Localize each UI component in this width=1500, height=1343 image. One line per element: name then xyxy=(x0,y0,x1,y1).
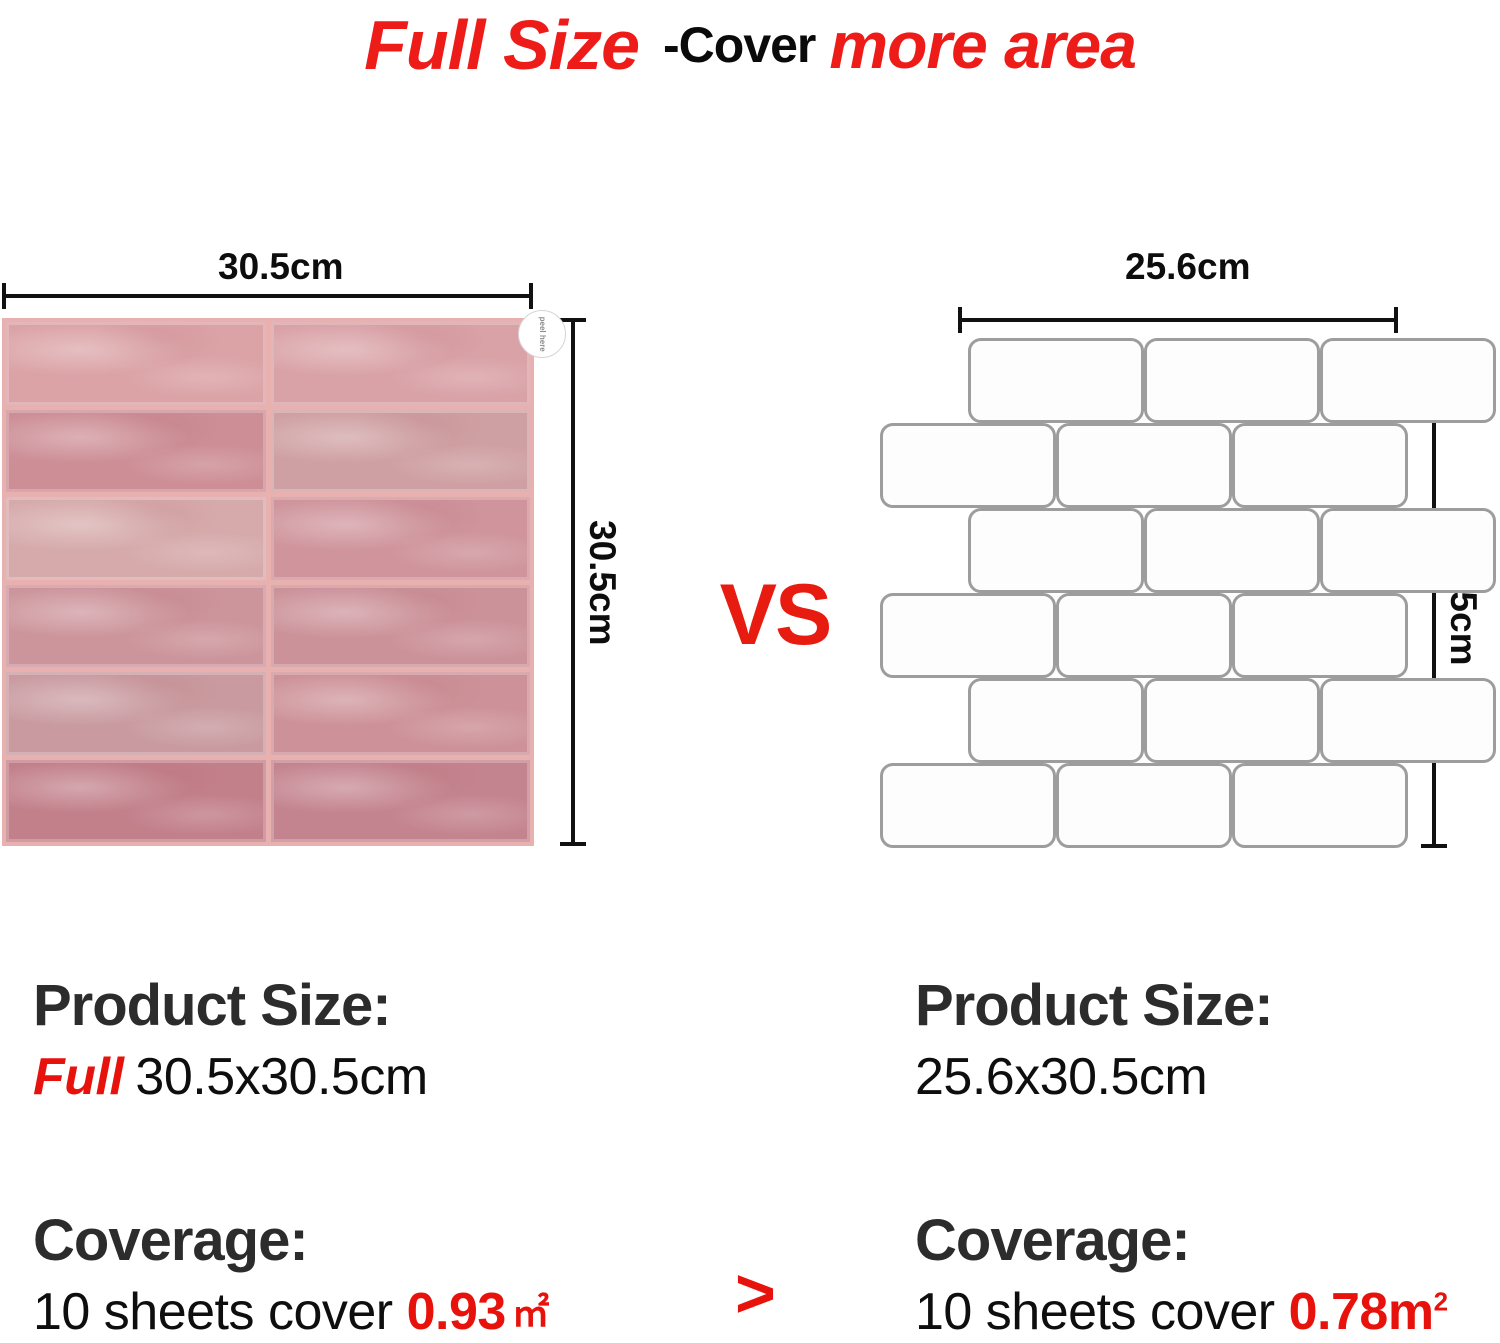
white-brick-tile xyxy=(968,508,1144,593)
right-coverage-prefix: 10 sheets cover xyxy=(915,1283,1275,1341)
right-coverage-unit-exponent: 2 xyxy=(1434,1286,1448,1316)
right-product-size-value: 25.6x30.5cm xyxy=(915,1048,1500,1106)
pink-tile xyxy=(271,322,531,405)
left-width-dimension-line xyxy=(2,294,533,298)
white-tile-sheet xyxy=(880,338,1408,850)
white-brick-tile xyxy=(1232,423,1408,508)
right-coverage-heading: Coverage: xyxy=(915,1210,1500,1273)
brick-row xyxy=(880,593,1408,678)
white-brick-tile xyxy=(880,423,1056,508)
white-brick-tile xyxy=(880,593,1056,678)
pink-tile xyxy=(271,760,531,843)
peel-here-label: peel here xyxy=(538,316,546,351)
pink-tile xyxy=(271,672,531,755)
brick-row xyxy=(880,423,1408,508)
white-brick-tile xyxy=(880,763,1056,848)
white-brick-tile xyxy=(968,338,1144,423)
pink-tile xyxy=(6,410,266,493)
pink-tile xyxy=(6,672,266,755)
left-coverage-unit: ㎡ xyxy=(512,1292,549,1334)
right-width-dimension-label: 25.6cm xyxy=(1125,248,1251,285)
brick-row xyxy=(880,678,1408,763)
title-part-full-size: Full Size xyxy=(364,10,639,80)
pink-tile xyxy=(6,322,266,405)
left-coverage-value: 10 sheets cover0.93㎡ xyxy=(33,1283,673,1341)
white-brick-tile xyxy=(1320,678,1496,763)
pink-tile xyxy=(271,585,531,668)
white-brick-tile xyxy=(1056,593,1232,678)
left-coverage-heading: Coverage: xyxy=(33,1210,673,1273)
white-brick-tile xyxy=(1320,508,1496,593)
page-title: Full Size -Cover more area xyxy=(0,2,1500,88)
pink-tile-sheet xyxy=(2,318,534,846)
left-width-dimension-label: 30.5cm xyxy=(218,248,344,285)
left-height-dimension-label: 30.5cm xyxy=(584,520,621,646)
pink-tile xyxy=(271,497,531,580)
brick-row xyxy=(880,508,1408,593)
title-part-cover: -Cover xyxy=(663,20,815,70)
left-height-dimension-line xyxy=(571,318,575,846)
white-brick-tile xyxy=(1144,508,1320,593)
left-product-size-block: Product Size: Full30.5x30.5cm xyxy=(33,975,673,1106)
vs-label: VS xyxy=(700,572,850,658)
white-brick-tile xyxy=(1056,763,1232,848)
left-product-size-heading: Product Size: xyxy=(33,975,673,1038)
pink-tile xyxy=(6,497,266,580)
brick-row xyxy=(880,763,1408,848)
left-product-size-number: 30.5x30.5cm xyxy=(135,1048,427,1106)
right-coverage-unit: m xyxy=(1388,1283,1434,1341)
title-part-more-area: more area xyxy=(829,12,1136,78)
white-brick-tile xyxy=(1232,763,1408,848)
right-product-size-block: Product Size: 25.6x30.5cm xyxy=(915,975,1500,1106)
white-brick-tile xyxy=(1320,338,1496,423)
greater-than-icon: > xyxy=(735,1258,776,1328)
left-coverage-number: 0.93 xyxy=(407,1283,506,1341)
pink-tile xyxy=(6,760,266,843)
peel-here-tab[interactable]: peel here xyxy=(518,310,566,358)
right-coverage-block: Coverage: 10 sheets cover0.78m2 xyxy=(915,1210,1500,1341)
right-coverage-value: 10 sheets cover0.78m2 xyxy=(915,1283,1500,1341)
pink-tile xyxy=(6,585,266,668)
right-width-dimension-line xyxy=(958,318,1398,322)
left-product-size-value: Full30.5x30.5cm xyxy=(33,1048,673,1106)
left-coverage-prefix: 10 sheets cover xyxy=(33,1283,393,1341)
brick-row xyxy=(880,338,1408,423)
right-product-size-heading: Product Size: xyxy=(915,975,1500,1038)
white-brick-tile xyxy=(968,678,1144,763)
left-coverage-block: Coverage: 10 sheets cover0.93㎡ xyxy=(33,1210,673,1341)
pink-tile xyxy=(271,410,531,493)
white-brick-tile xyxy=(1056,423,1232,508)
comparison-infographic: Full Size -Cover more area 30.5cm 30.5cm… xyxy=(0,0,1500,1343)
right-coverage-number: 0.78 xyxy=(1289,1283,1388,1341)
white-brick-tile xyxy=(1144,338,1320,423)
left-product-size-emphasis: Full xyxy=(33,1048,123,1106)
white-brick-tile xyxy=(1232,593,1408,678)
white-brick-tile xyxy=(1144,678,1320,763)
pink-tile-grid xyxy=(6,322,530,842)
